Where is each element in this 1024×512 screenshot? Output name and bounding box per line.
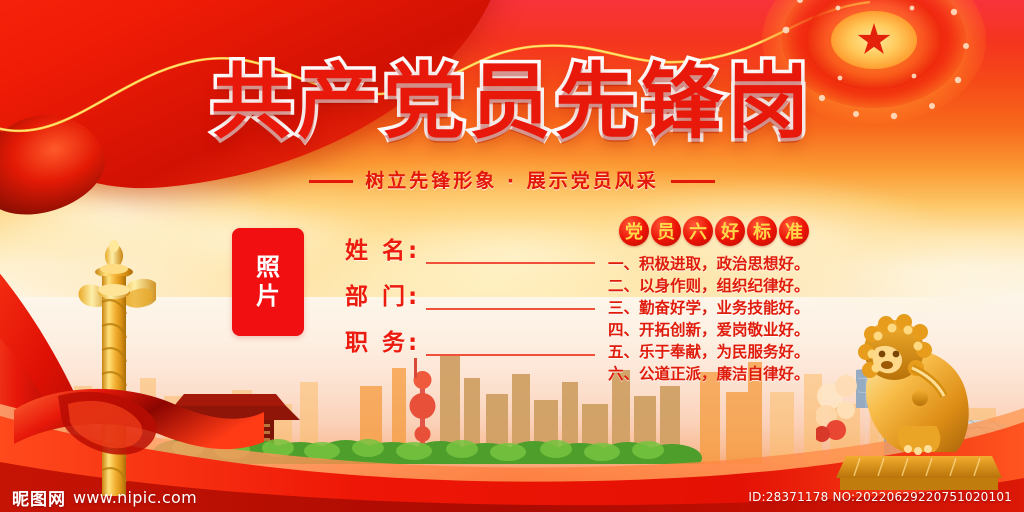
- photo-label-char-1: 照: [256, 253, 280, 282]
- red-silk-ribbon-icon: [14, 378, 264, 488]
- standards-heading-chip: 员: [651, 216, 681, 246]
- title-wrap: 共产党员先锋岗: [0, 62, 1024, 144]
- standards-heading: 党 员 六 好 标 准: [608, 216, 820, 246]
- standards-heading-chip: 好: [715, 216, 745, 246]
- golden-guardian-lion-icon: [816, 306, 1006, 494]
- subtitle-text: 树立先锋形象 · 展示党员风采: [365, 170, 658, 192]
- standards-heading-chip: 准: [779, 216, 809, 246]
- red-star-icon: [857, 23, 891, 57]
- photo-placeholder-box[interactable]: 照 片: [232, 228, 304, 336]
- field-input-department[interactable]: [426, 308, 595, 310]
- standards-heading-chip: 六: [683, 216, 713, 246]
- page-subtitle: 树立先锋形象 · 展示党员风采: [0, 166, 1024, 193]
- field-input-position[interactable]: [426, 354, 595, 356]
- subtitle-rule-right: [671, 180, 715, 183]
- subtitle-rule-left: [309, 180, 353, 183]
- standards-item: 一、积极进取，政治思想好。: [608, 253, 820, 275]
- poster-canvas: 共产党员先锋岗 树立先锋形象 · 展示党员风采: [0, 0, 1024, 512]
- page-title: 共产党员先锋岗: [211, 62, 813, 144]
- standards-heading-chip: 标: [747, 216, 777, 246]
- peony-flower-icon: [816, 375, 857, 442]
- field-label-position: 职 务:: [345, 332, 420, 360]
- field-row-position: 职 务:: [345, 314, 595, 360]
- standards-heading-chip: 党: [619, 216, 649, 246]
- standards-item: 六、公道正派，廉洁自律好。: [608, 363, 820, 385]
- info-fields: 姓 名: 部 门: 职 务:: [345, 222, 595, 360]
- field-label-name: 姓 名:: [345, 240, 420, 268]
- standards-list: 一、积极进取，政治思想好。 二、以身作则，组织纪律好。 三、勤奋好学，业务技能好…: [608, 253, 820, 385]
- standards-panel: 党 员 六 好 标 准 一、积极进取，政治思想好。 二、以身作则，组织纪律好。 …: [608, 216, 820, 385]
- field-row-name: 姓 名:: [345, 222, 595, 268]
- photo-label-char-2: 片: [256, 282, 280, 311]
- standards-item: 三、勤奋好学，业务技能好。: [608, 297, 820, 319]
- field-row-department: 部 门:: [345, 268, 595, 314]
- field-label-department: 部 门:: [345, 286, 420, 314]
- standards-item: 四、开拓创新，爱岗敬业好。: [608, 319, 820, 341]
- standards-item: 五、乐于奉献，为民服务好。: [608, 341, 820, 363]
- field-input-name[interactable]: [426, 262, 595, 264]
- standards-item: 二、以身作则，组织纪律好。: [608, 275, 820, 297]
- starburst-core-glow: [831, 11, 917, 69]
